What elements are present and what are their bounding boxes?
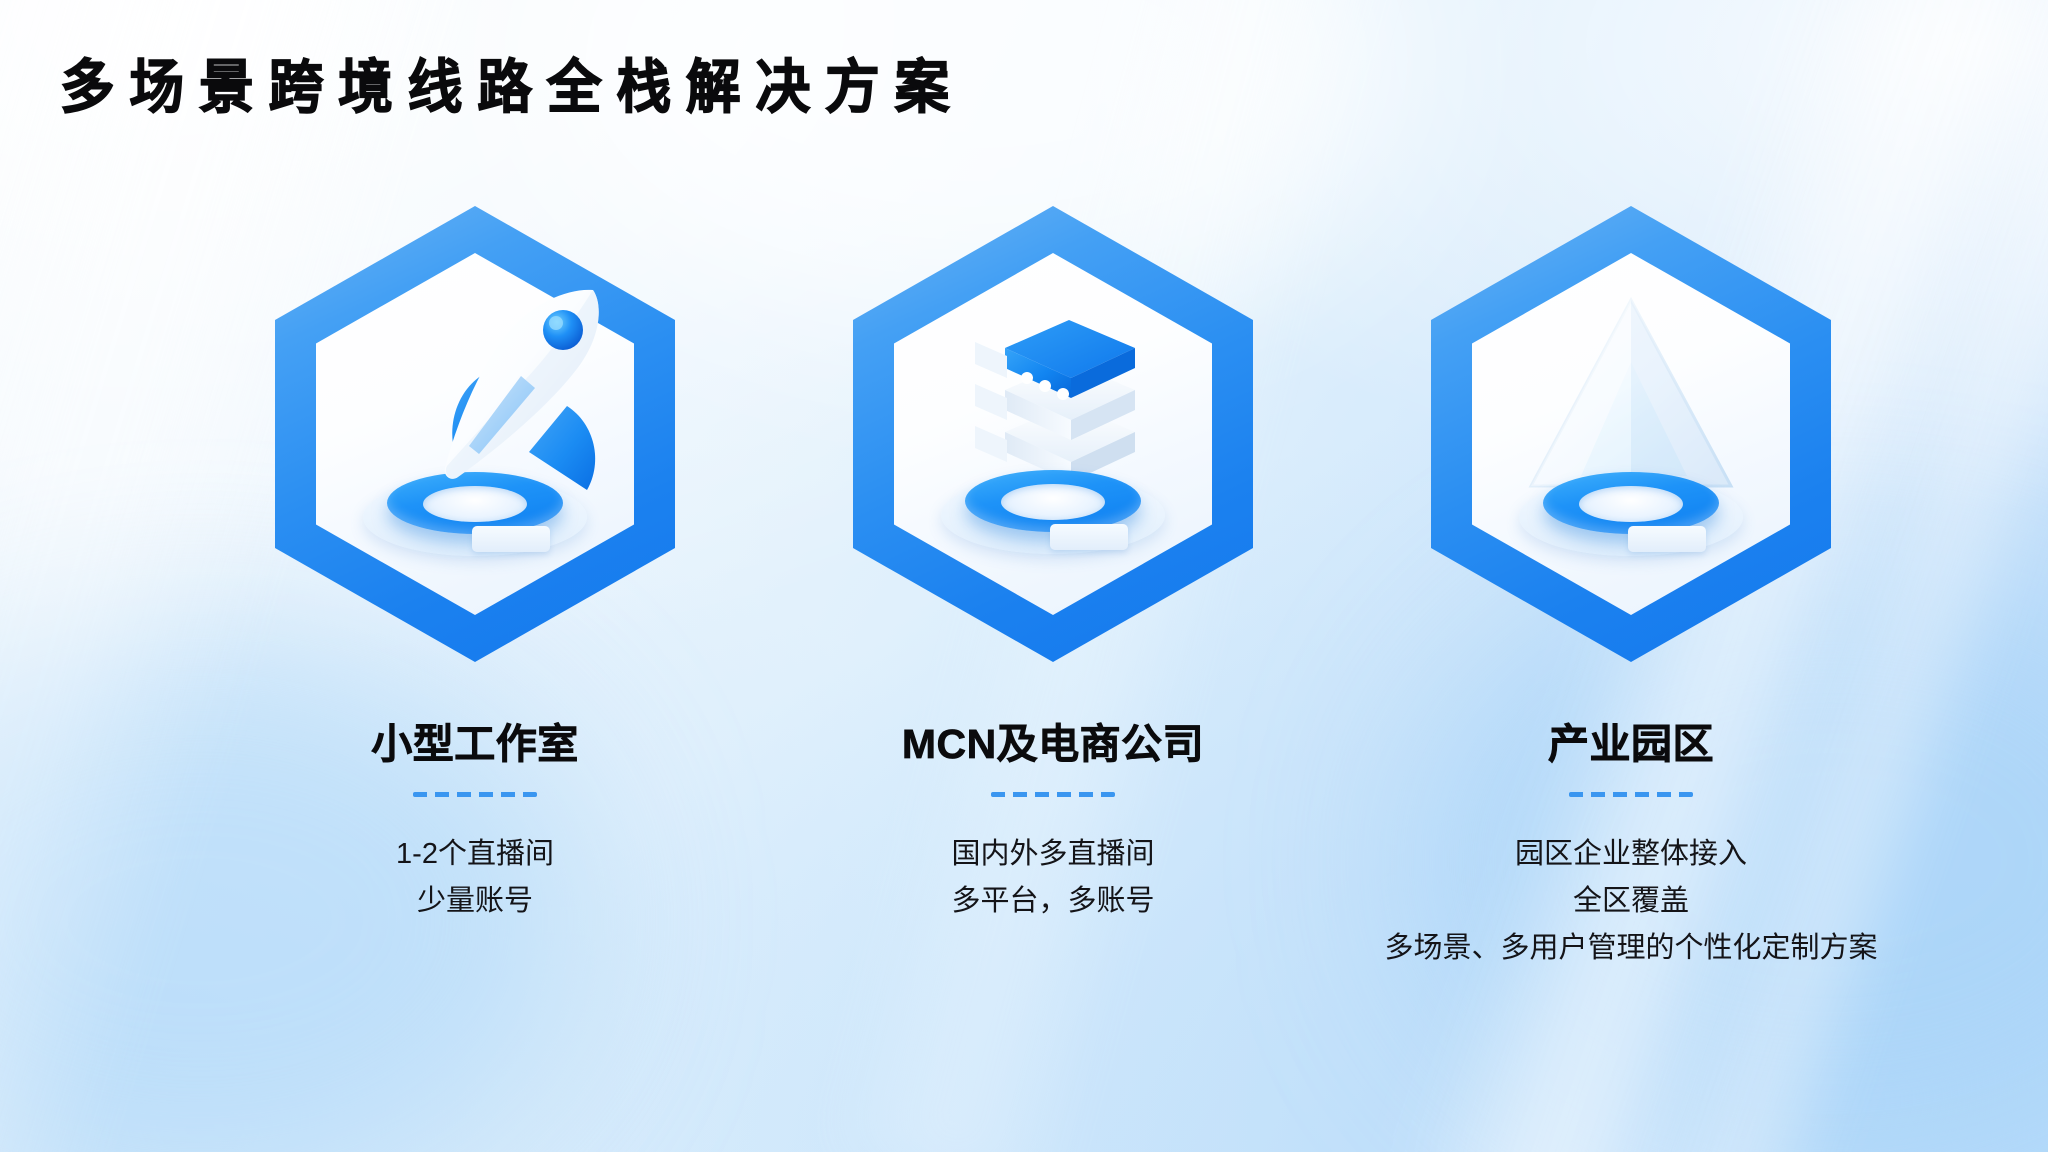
hexagon-tile: [275, 200, 675, 668]
pedestal-hole: [1001, 484, 1105, 520]
card-description: 1-2个直播间 少量账号: [396, 831, 554, 925]
card-description: 国内外多直播间 多平台，多账号: [951, 831, 1154, 925]
poster-stage: 多场景跨境线路全栈解决方案: [0, 0, 2048, 1152]
card-title: 产业园区: [1548, 710, 1714, 770]
description-line: 园区企业整体接入: [1384, 831, 1877, 878]
rocket-icon: [325, 264, 625, 604]
pyramid-icon: [1481, 264, 1781, 604]
description-line: 全区覆盖: [1384, 878, 1877, 925]
description-line: 多场景、多用户管理的个性化定制方案: [1384, 925, 1877, 972]
page-title: 多场景跨境线路全栈解决方案: [60, 58, 964, 119]
pedestal-hole: [1579, 486, 1683, 522]
scenario-card-mcn[interactable]: MCN及电商公司 国内外多直播间 多平台，多账号: [773, 200, 1333, 925]
description-line: 多平台，多账号: [951, 878, 1154, 925]
card-divider: [991, 792, 1115, 797]
server-stack-icon: [903, 264, 1203, 604]
card-description: 园区企业整体接入 全区覆盖 多场景、多用户管理的个性化定制方案: [1384, 831, 1877, 972]
hexagon-tile: [1431, 200, 1831, 668]
card-divider: [413, 792, 537, 797]
scenario-card-studio[interactable]: 小型工作室 1-2个直播间 少量账号: [195, 200, 755, 925]
description-line: 少量账号: [396, 878, 554, 925]
card-title: MCN及电商公司: [902, 710, 1204, 770]
hexagon-tile: [853, 200, 1253, 668]
rocket-glyph: [417, 276, 617, 536]
scenario-card-list: 小型工作室 1-2个直播间 少量账号: [0, 200, 2048, 972]
description-line: 国内外多直播间: [951, 831, 1154, 878]
description-line: 1-2个直播间: [396, 831, 554, 878]
scenario-card-park[interactable]: 产业园区 园区企业整体接入 全区覆盖 多场景、多用户管理的个性化定制方案: [1351, 200, 1911, 972]
card-title: 小型工作室: [371, 710, 579, 770]
pedestal-notch: [1628, 526, 1706, 552]
card-divider: [1569, 792, 1693, 797]
pedestal-notch: [1050, 524, 1128, 550]
